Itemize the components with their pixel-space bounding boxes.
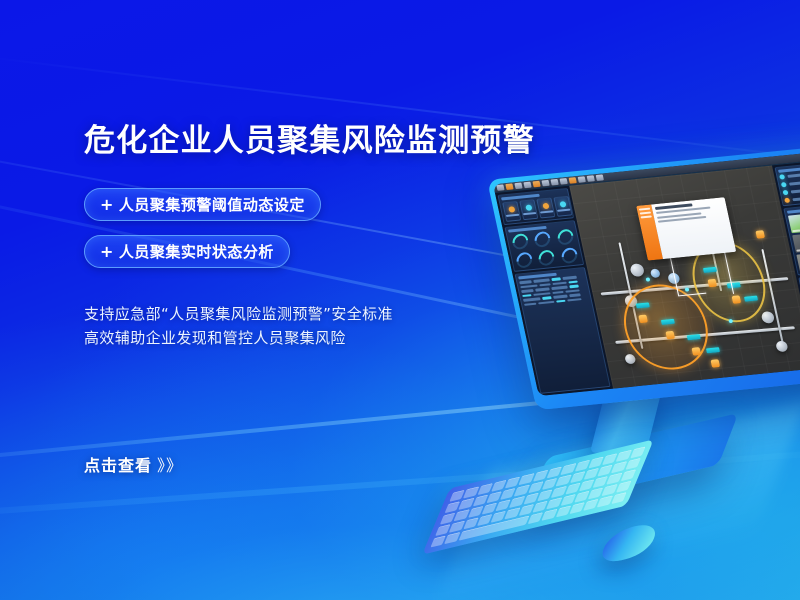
kpi-tile[interactable] (502, 201, 521, 222)
desktop-computer-illustration (395, 150, 800, 590)
gauge-ring (554, 228, 577, 246)
person-marker[interactable] (755, 231, 765, 240)
legend-item[interactable] (781, 180, 800, 187)
gauge-grid (509, 228, 581, 269)
view-details-link[interactable]: 点击查看》》 (84, 452, 183, 476)
legend-list (779, 169, 800, 203)
legend-item[interactable] (782, 188, 800, 195)
kpi-tile[interactable] (536, 197, 555, 218)
toolbar-icon[interactable] (514, 183, 522, 190)
toolbar-icon[interactable] (596, 174, 604, 181)
popup-body (651, 197, 737, 259)
gauge-ring (558, 247, 581, 265)
person-marker[interactable] (711, 359, 721, 368)
person-marker[interactable] (708, 279, 718, 288)
person-marker[interactable] (691, 347, 701, 356)
info-popup[interactable] (636, 197, 737, 261)
toolbar-icon[interactable] (560, 178, 568, 185)
dashboard-screen (493, 150, 800, 396)
feature-tag-label: 人员聚集预警阈值动态设定 (119, 194, 305, 215)
kpi-card-panel[interactable] (497, 188, 574, 225)
gauge-ring (531, 230, 554, 248)
plus-icon: + (100, 242, 114, 261)
double-chevron-icon: 》》 (157, 456, 183, 475)
toolbar-icon[interactable] (523, 182, 531, 189)
kpi-grid (502, 196, 570, 222)
feature-tag-label: 人员聚集实时状态分析 (119, 241, 274, 262)
toolbar-icon[interactable] (541, 180, 549, 187)
toolbar-icon[interactable] (532, 181, 540, 188)
toolbar-icon[interactable] (578, 176, 586, 183)
dashboard-body (495, 159, 800, 396)
legend-item[interactable] (779, 172, 800, 179)
sensor-dot[interactable] (645, 277, 650, 281)
person-marker[interactable] (665, 331, 675, 340)
plus-icon: + (100, 195, 114, 214)
kpi-tile[interactable] (553, 196, 572, 217)
monitor (487, 145, 800, 410)
toolbar-icon[interactable] (505, 183, 513, 190)
camera-thumbnail[interactable] (792, 233, 800, 253)
panel-title-bar (778, 167, 800, 173)
toolbar-icon[interactable] (550, 179, 558, 186)
promo-banner: 危化企业人员聚集风险监测预警 + 人员聚集预警阈值动态设定 + 人员聚集实时状态… (0, 0, 800, 600)
gauge-ring (513, 251, 536, 269)
toolbar-icon[interactable] (587, 175, 595, 182)
mouse[interactable] (598, 520, 660, 565)
data-row-list (519, 275, 589, 306)
kpi-tile[interactable] (519, 199, 538, 220)
camera-thumbnail[interactable] (788, 213, 800, 233)
gauge-panel[interactable] (504, 220, 584, 272)
gauge-ring (535, 249, 558, 267)
gauge-ring (509, 233, 532, 251)
toolbar-icon[interactable] (569, 177, 577, 184)
panel-title-bar (787, 207, 800, 213)
camera-thumbnail[interactable] (796, 252, 800, 272)
toolbar-icon[interactable] (496, 184, 504, 191)
feature-tag-threshold[interactable]: + 人员聚集预警阈值动态设定 (84, 188, 321, 221)
feature-tag-realtime[interactable]: + 人员聚集实时状态分析 (84, 235, 290, 268)
legend-item[interactable] (784, 196, 800, 203)
cta-label: 点击查看 (84, 456, 152, 475)
